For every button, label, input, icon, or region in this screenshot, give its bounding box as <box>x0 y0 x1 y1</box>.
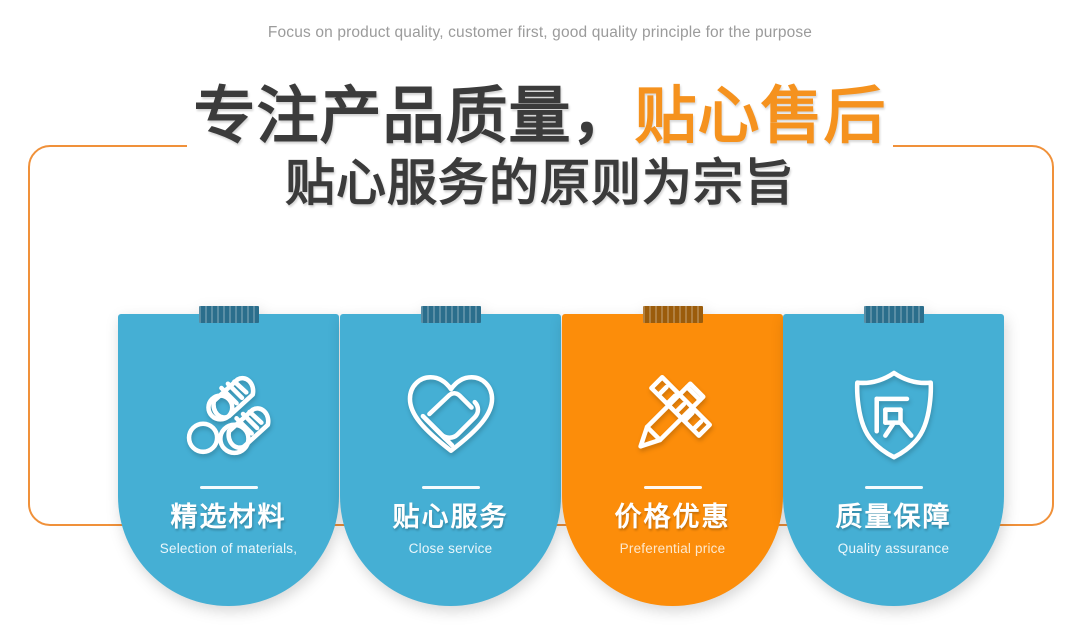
card-divider <box>644 486 702 489</box>
shield-zhi-icon <box>840 360 948 468</box>
feature-card-close-service[interactable]: 贴心服务 Close service <box>340 314 561 606</box>
card-divider <box>865 486 923 489</box>
headline-line-2: 贴心服务的原则为宗旨 <box>0 158 1080 208</box>
card-divider <box>200 486 258 489</box>
pencil-ruler-icon <box>619 360 727 468</box>
feature-card-quality-assurance[interactable]: 质量保障 Quality assurance <box>783 314 1004 606</box>
pipes-icon <box>175 360 283 468</box>
headline-line-1-accent: 贴心售后 <box>635 82 887 151</box>
headline-line-1-dark: 专注产品质量， <box>193 82 634 151</box>
promo-banner: Focus on product quality, customer first… <box>0 0 1080 626</box>
headline-line-1: 专注产品质量，贴心售后 <box>0 86 1080 148</box>
card-tab-icon <box>643 306 703 323</box>
card-subtitle: Preferential price <box>620 542 726 557</box>
card-subtitle: Selection of materials, <box>160 542 297 557</box>
card-title: 价格优惠 <box>615 503 731 533</box>
card-subtitle: Close service <box>409 542 493 557</box>
tagline-text: Focus on product quality, customer first… <box>0 24 1080 42</box>
card-subtitle: Quality assurance <box>838 542 949 557</box>
headline-block: 专注产品质量，贴心售后 贴心服务的原则为宗旨 <box>0 86 1080 208</box>
card-title: 贴心服务 <box>393 503 509 533</box>
heart-handshake-icon <box>397 360 505 468</box>
card-tab-icon <box>864 306 924 323</box>
card-tab-icon <box>199 306 259 323</box>
card-title: 质量保障 <box>836 503 952 533</box>
feature-card-preferential-price[interactable]: 价格优惠 Preferential price <box>562 314 783 606</box>
feature-card-list: 精选材料 Selection of materials, <box>0 314 1080 614</box>
card-divider <box>422 486 480 489</box>
card-tab-icon <box>421 306 481 323</box>
feature-card-selection-of-materials[interactable]: 精选材料 Selection of materials, <box>118 314 339 606</box>
card-title: 精选材料 <box>171 503 287 533</box>
